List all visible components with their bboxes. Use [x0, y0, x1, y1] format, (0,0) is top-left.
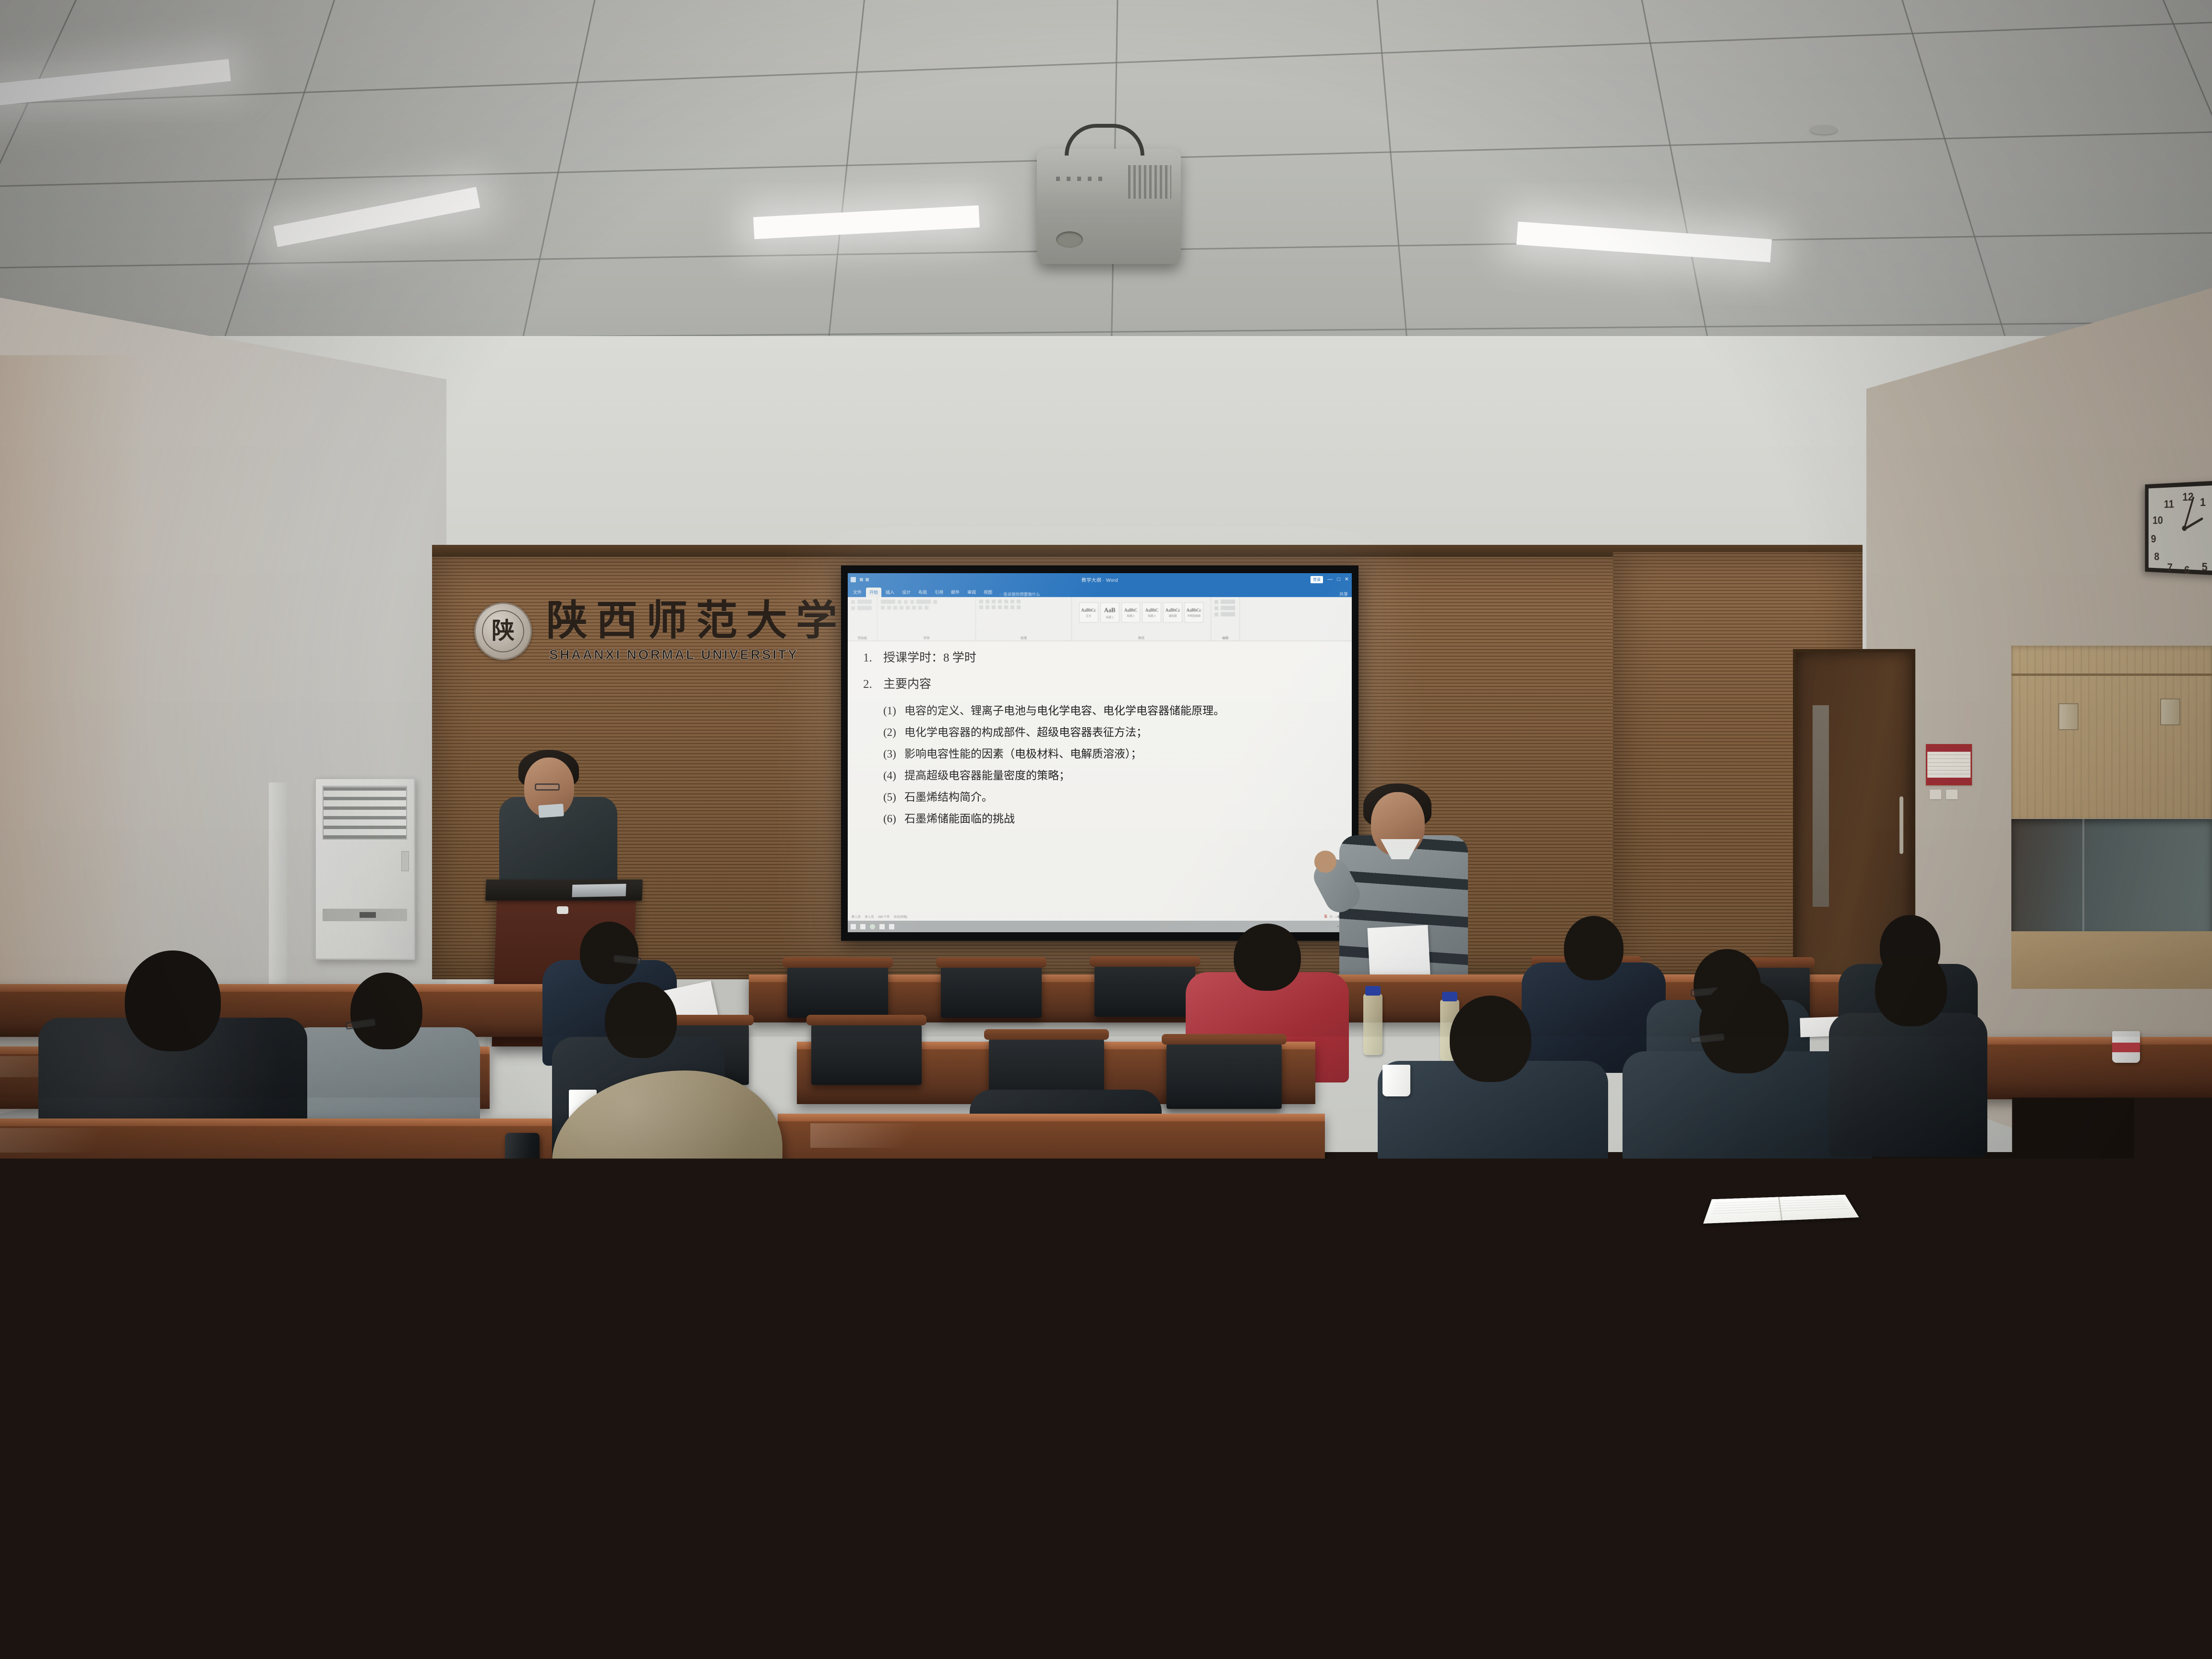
clock-numeral-10: 10 — [2152, 514, 2163, 527]
style-preview: AaBbCc — [1081, 608, 1096, 613]
style-heading-1[interactable]: AaB 标题 1 — [1100, 602, 1119, 623]
tell-me-label: 告诉我你想要做什么 — [1003, 591, 1040, 597]
sticker-icon — [1930, 790, 1941, 799]
doc-subitem-text: 影响电容性能的因素（电极材料、电解质溶液）； — [904, 747, 1142, 761]
style-name: 标题 1 — [1106, 615, 1114, 619]
university-seal-icon: 陕 — [474, 602, 532, 660]
redo-icon[interactable] — [866, 578, 869, 581]
lens-right-icon — [1832, 1188, 1854, 1200]
ribbon-group-editing[interactable]: 编辑 — [1211, 597, 1240, 641]
doc-item-text: 授课学时：8 学时 — [883, 651, 976, 666]
smoke-detector-icon — [1810, 125, 1838, 134]
door-glass-panel — [1813, 705, 1829, 907]
format-painter-icon[interactable] — [857, 606, 872, 610]
select-icon[interactable] — [1214, 613, 1218, 616]
audience-head — [1699, 979, 1789, 1073]
style-preview: AaBbCc — [1187, 608, 1202, 613]
audience-head — [605, 982, 677, 1058]
doc-subitem-text: 石墨烯结构简介。 — [904, 791, 993, 804]
bullets-icon[interactable] — [979, 600, 983, 603]
ribbon-group-styles[interactable]: AaBbCc 正文 AaB 标题 1 AaBbC 标题 2 AaBbC — [1072, 597, 1211, 641]
ceiling-light-fixture — [1516, 222, 1772, 263]
chair-rail — [782, 957, 893, 968]
search-icon[interactable] — [860, 924, 866, 929]
doc-subitem-number: (3) — [883, 747, 900, 761]
desk-top-edge — [778, 1114, 1325, 1121]
task-view-icon[interactable] — [879, 924, 885, 929]
projector-indicator-lights — [1056, 177, 1109, 181]
tab-layout[interactable]: 布局 — [915, 588, 930, 597]
presenter-collar — [538, 804, 564, 818]
lightbulb-icon: ◌ — [999, 592, 1002, 597]
style-preview: AaBbC — [1145, 608, 1158, 613]
status-words: 545 个字 — [878, 914, 890, 919]
clock-numeral-1: 1 — [2200, 495, 2206, 509]
chair[interactable] — [1992, 1469, 2212, 1659]
desk-glint — [0, 1200, 114, 1231]
save-icon[interactable] — [851, 577, 856, 582]
ribbon-group-clipboard[interactable]: 剪贴板 — [848, 597, 878, 641]
ribbon-group-paragraph[interactable]: 段落 — [976, 597, 1072, 641]
doc-subitem-number: (2) — [883, 726, 900, 739]
paper-cup — [2112, 1031, 2140, 1063]
style-name: 不明显强调 — [1187, 614, 1201, 618]
clock-pivot — [2182, 526, 2187, 531]
tell-me-search[interactable]: ◌ 告诉我你想要做什么 — [999, 591, 1040, 597]
style-preview: AaBbC — [1124, 608, 1137, 613]
audience-head — [350, 973, 422, 1049]
tab-design[interactable]: 设计 — [899, 588, 914, 597]
style-normal[interactable]: AaBbCc 正文 — [1079, 602, 1098, 623]
desk-row-third — [778, 1114, 1325, 1186]
chair-rail — [1162, 1034, 1286, 1045]
group-label-editing: 编辑 — [1214, 635, 1236, 641]
align-left-icon[interactable] — [979, 605, 983, 609]
clock-numeral-7: 7 — [2167, 561, 2173, 574]
share-button[interactable]: 共享 — [1339, 591, 1348, 597]
doc-item-1: 1. 授课学时：8 学时 — [863, 651, 1337, 666]
desk-glint — [588, 1378, 825, 1427]
chair[interactable] — [125, 1483, 451, 1659]
chair-rail — [744, 1255, 1013, 1265]
audience-head — [1564, 916, 1623, 980]
shrink-font-icon[interactable] — [910, 600, 914, 604]
audience-head — [1875, 950, 1947, 1026]
style-name: 副标题 — [1169, 614, 1177, 618]
ime-status-icon[interactable]: S — [1324, 914, 1327, 919]
strikethrough-icon[interactable] — [900, 606, 903, 610]
line-spacing-icon[interactable] — [1004, 605, 1008, 609]
style-name: 标题 2 — [1127, 614, 1135, 618]
replace-label[interactable] — [1221, 606, 1235, 610]
chair-rail — [1987, 1212, 2212, 1222]
cut-icon[interactable] — [857, 600, 872, 604]
chair[interactable] — [941, 965, 1042, 1018]
thermos-bottle — [505, 1133, 540, 1224]
audience-head — [580, 922, 638, 984]
status-pages: 共 1 页 — [865, 914, 874, 919]
audience-head — [125, 950, 221, 1051]
ac-control-panel[interactable] — [401, 851, 409, 871]
audience-head — [1234, 924, 1301, 991]
university-name-en: SHAANXI NORMAL UNIVERSITY — [549, 647, 846, 662]
status-language: 中文(中国) — [894, 914, 907, 919]
group-label-styles: 样式 — [1075, 635, 1207, 641]
quick-access-toolbar[interactable] — [860, 578, 869, 581]
doc-subitem-6: (6) 石墨烯储能面临的挑战 — [883, 812, 1337, 826]
doc-subitem-text: 石墨烯储能面临的挑战 — [904, 812, 1015, 826]
tab-view[interactable]: 视图 — [980, 588, 996, 597]
desk-top-edge — [1392, 1186, 2141, 1193]
word-title-bar: 教学大纲 · Word 登录 — □ ✕ — [848, 573, 1352, 586]
doc-item-2: 2. 主要内容 — [863, 677, 1337, 692]
group-label-clipboard: 剪贴板 — [851, 635, 874, 641]
projector-vent-icon — [1128, 165, 1171, 199]
style-preview: AaBbCc — [1166, 608, 1180, 613]
increase-indent-icon[interactable] — [1004, 600, 1008, 603]
audience-head — [1450, 996, 1531, 1082]
lectern-microphone — [557, 906, 568, 914]
tab-mailings[interactable]: 邮件 — [948, 588, 963, 597]
font-size-select[interactable] — [898, 600, 902, 604]
sort-icon[interactable] — [1010, 600, 1014, 603]
chair-rail — [1987, 1457, 2212, 1472]
close-button[interactable]: ✕ — [1345, 577, 1349, 582]
underline-icon[interactable] — [893, 606, 897, 610]
lens-left-icon — [1805, 1188, 1827, 1200]
eyeglasses-on-desk — [1805, 1186, 1865, 1202]
chair[interactable] — [787, 965, 888, 1018]
chair-rail — [1301, 1240, 1579, 1251]
sticker-icon — [1946, 790, 1958, 799]
chair-rail — [936, 957, 1046, 968]
doc-subitem-text: 电容的定义、锂离子电池与电化学电容、电化学电容器储能原理。 — [904, 704, 1225, 718]
projector-lens-icon — [1056, 231, 1083, 248]
standing-presenter-hand — [1314, 851, 1336, 873]
doc-subitem-2: (2) 电化学电容器的构成部件、超级电容器表征方法； — [883, 726, 1337, 739]
doc-subitem-text: 电化学电容器的构成部件、超级电容器表征方法； — [904, 726, 1147, 739]
chair-rail — [806, 1015, 926, 1025]
style-heading-2[interactable]: AaBbC 标题 2 — [1121, 602, 1141, 623]
presenter-glasses-icon — [535, 783, 560, 791]
lecture-hall-scene: 陕 陕西师范大学 SHAANXI NORMAL UNIVERSITY 教学大纲 … — [0, 0, 2212, 1659]
document-title: 教学大纲 · Word — [848, 576, 1352, 583]
multilevel-list-icon[interactable] — [992, 600, 996, 603]
chair-rail — [835, 1467, 1181, 1481]
style-subtle-emphasis[interactable]: AaBbCc 不明显强调 — [1184, 602, 1203, 623]
chair-rail — [1090, 956, 1200, 967]
subscript-icon[interactable] — [906, 606, 910, 610]
numbering-icon[interactable] — [986, 600, 989, 603]
style-heading-3[interactable]: AaBbC 标题 3 — [1142, 602, 1161, 623]
university-branding: 陕 陕西师范大学 SHAANXI NORMAL UNIVERSITY — [474, 600, 846, 662]
grow-font-icon[interactable] — [904, 600, 908, 604]
network-icon[interactable]: ⌁ — [1337, 925, 1339, 928]
desk-top-edge — [0, 1190, 480, 1198]
phonetic-guide-icon[interactable] — [916, 600, 931, 604]
find-icon[interactable] — [1214, 600, 1218, 604]
cabinet-handle[interactable] — [2160, 698, 2180, 725]
desk-glint — [0, 1382, 132, 1431]
copy-icon[interactable] — [851, 606, 855, 610]
doc-subitem-number: (5) — [883, 791, 900, 804]
university-name-cn: 陕西师范大学 — [546, 600, 846, 641]
doc-subitem-text: 提高超级电容器能量密度的策略； — [904, 769, 1070, 782]
counter-recess — [2011, 819, 2212, 934]
doc-subitem-1: (1) 电容的定义、锂离子电池与电化学电容、电化学电容器储能原理。 — [883, 704, 1337, 718]
ac-vent-icon — [323, 786, 407, 840]
justify-icon[interactable] — [998, 605, 1002, 609]
word-status-bar: 第 1 页 共 1 页 545 个字 中文(中国) S 中 · ◑ ❶ ⊘ : … — [848, 913, 1352, 920]
status-page: 第 1 页 — [852, 914, 861, 919]
group-label-font: 字体 — [881, 635, 972, 641]
clock-numeral-5: 5 — [2202, 560, 2208, 574]
decrease-indent-icon[interactable] — [998, 600, 1002, 603]
tab-home[interactable]: 开始 — [866, 588, 881, 597]
ceiling-light-fixture — [274, 187, 480, 247]
projected-desktop: 教学大纲 · Word 登录 — □ ✕ 文件 开始 插入 设计 布局 引用 邮… — [848, 573, 1352, 932]
tab-references[interactable]: 引用 — [931, 588, 947, 597]
desk-glint — [1479, 1373, 1692, 1422]
doc-item-number: 2. — [863, 677, 876, 692]
bold-icon[interactable] — [881, 606, 885, 610]
desk-glint — [828, 1200, 960, 1231]
group-label-paragraph: 段落 — [979, 635, 1068, 641]
left-wall-shading — [0, 355, 144, 1027]
clear-formatting-icon[interactable] — [933, 600, 937, 604]
ceiling-projector — [1037, 149, 1181, 264]
wall-cabinets[interactable] — [2011, 646, 2212, 818]
maximize-button[interactable]: □ — [1337, 577, 1340, 582]
notice-body-text — [1927, 752, 1971, 778]
doc-subitem-4: (4) 提高超级电容器能量密度的策略； — [883, 769, 1337, 782]
wall-clock: 12 11 10 9 8 7 6 5 4 3 2 1 — [2145, 480, 2212, 576]
ribbon-group-font[interactable]: 字体 — [878, 597, 976, 641]
clock-numeral-6: 6 — [2184, 564, 2190, 577]
tab-insert[interactable]: 插入 — [882, 588, 898, 597]
document-canvas[interactable]: 1. 授课学时：8 学时 2. 主要内容 (1) 电容的定义、锂离子电池与电化学… — [848, 641, 1352, 932]
chair[interactable] — [811, 1022, 922, 1085]
chair-rail — [120, 1472, 456, 1486]
air-conditioner[interactable] — [314, 778, 415, 960]
doc-subitem-number: (6) — [883, 812, 900, 826]
cortana-icon[interactable] — [870, 924, 875, 929]
desk-top-edge — [0, 1118, 552, 1126]
chair[interactable] — [1166, 1042, 1282, 1109]
cabinet-divider — [2011, 673, 2212, 676]
ac-pipe-cover — [269, 782, 287, 994]
clock-numeral-8: 8 — [2154, 550, 2159, 563]
borders-icon[interactable] — [1017, 605, 1021, 609]
select-label[interactable] — [1221, 612, 1235, 616]
paper-cup — [1896, 1171, 1939, 1219]
chair[interactable] — [1992, 1219, 2212, 1363]
seal-character: 陕 — [492, 620, 515, 643]
style-subtitle[interactable]: AaBbCc 副标题 — [1163, 602, 1182, 623]
doc-subitem-5: (5) 石墨烯结构简介。 — [883, 791, 1337, 804]
projection-screen: 教学大纲 · Word 登录 — □ ✕ 文件 开始 插入 设计 布局 引用 邮… — [841, 565, 1358, 941]
desk-glint — [810, 1123, 952, 1148]
notice-footer-bar — [1927, 778, 1971, 784]
find-label[interactable] — [1221, 600, 1235, 604]
doc-subitem-3: (3) 影响电容性能的因素（电极材料、电解质溶液）； — [883, 747, 1337, 761]
sign-in-button[interactable]: 登录 — [1310, 576, 1323, 583]
paste-icon[interactable] — [851, 600, 855, 604]
wall-notice-stickers — [1930, 790, 1958, 799]
lectern-laptop[interactable] — [572, 884, 626, 897]
ac-lower-grille — [323, 909, 407, 921]
ribbon-tab-bar[interactable]: 文件 开始 插入 设计 布局 引用 邮件 审阅 视图 ◌ 告诉我你想要做什么 共… — [848, 586, 1352, 597]
paper-cup — [1382, 1065, 1410, 1096]
chair[interactable] — [840, 1479, 1176, 1659]
water-bottle — [1363, 994, 1382, 1055]
doc-subitem-number: (1) — [883, 704, 900, 718]
wall-notice-sign — [1926, 744, 1972, 785]
desk-top-edge — [797, 1190, 1306, 1198]
align-center-icon[interactable] — [986, 605, 989, 609]
minimize-button[interactable]: — — [1327, 577, 1333, 582]
chair-rail — [350, 1260, 629, 1270]
show-marks-icon[interactable] — [1017, 600, 1021, 603]
clock-numeral-9: 9 — [2151, 533, 2156, 545]
counter-base — [2011, 931, 2212, 989]
superscript-icon[interactable] — [912, 606, 916, 610]
notice-header-bar — [1927, 745, 1971, 752]
door-handle[interactable] — [1899, 796, 1903, 854]
font-color-icon[interactable] — [925, 606, 928, 610]
tab-review[interactable]: 审阅 — [964, 588, 979, 597]
clock-numeral-11: 11 — [2164, 498, 2174, 511]
start-icon[interactable] — [851, 924, 856, 929]
style-preview: AaB — [1104, 606, 1116, 614]
shading-icon[interactable] — [1010, 605, 1014, 609]
style-name: 标题 3 — [1148, 614, 1156, 618]
doc-subitem-number: (4) — [883, 769, 900, 782]
chair-rail — [1066, 1250, 1334, 1261]
audience-body — [1829, 1013, 1987, 1157]
chair-rail — [984, 1029, 1109, 1040]
doc-item-text: 主要内容 — [883, 677, 931, 692]
tab-file[interactable]: 文件 — [850, 588, 865, 597]
chair[interactable] — [1094, 964, 1195, 1017]
desk-glint — [0, 1128, 144, 1153]
replace-icon[interactable] — [1214, 606, 1218, 610]
italic-icon[interactable] — [887, 606, 891, 610]
ceiling-light-fixture — [753, 205, 980, 240]
style-name: 正文 — [1086, 614, 1091, 618]
desk-row-third — [0, 1118, 552, 1190]
align-right-icon[interactable] — [992, 605, 996, 609]
text-highlight-icon[interactable] — [918, 606, 922, 610]
font-family-select[interactable] — [881, 600, 895, 604]
word-icon[interactable] — [889, 924, 894, 929]
cabinet-handle[interactable] — [2058, 703, 2079, 730]
undo-icon[interactable] — [860, 578, 863, 581]
ribbon-body[interactable]: 剪贴板 — [848, 597, 1352, 641]
doc-item-number: 1. — [863, 651, 876, 666]
